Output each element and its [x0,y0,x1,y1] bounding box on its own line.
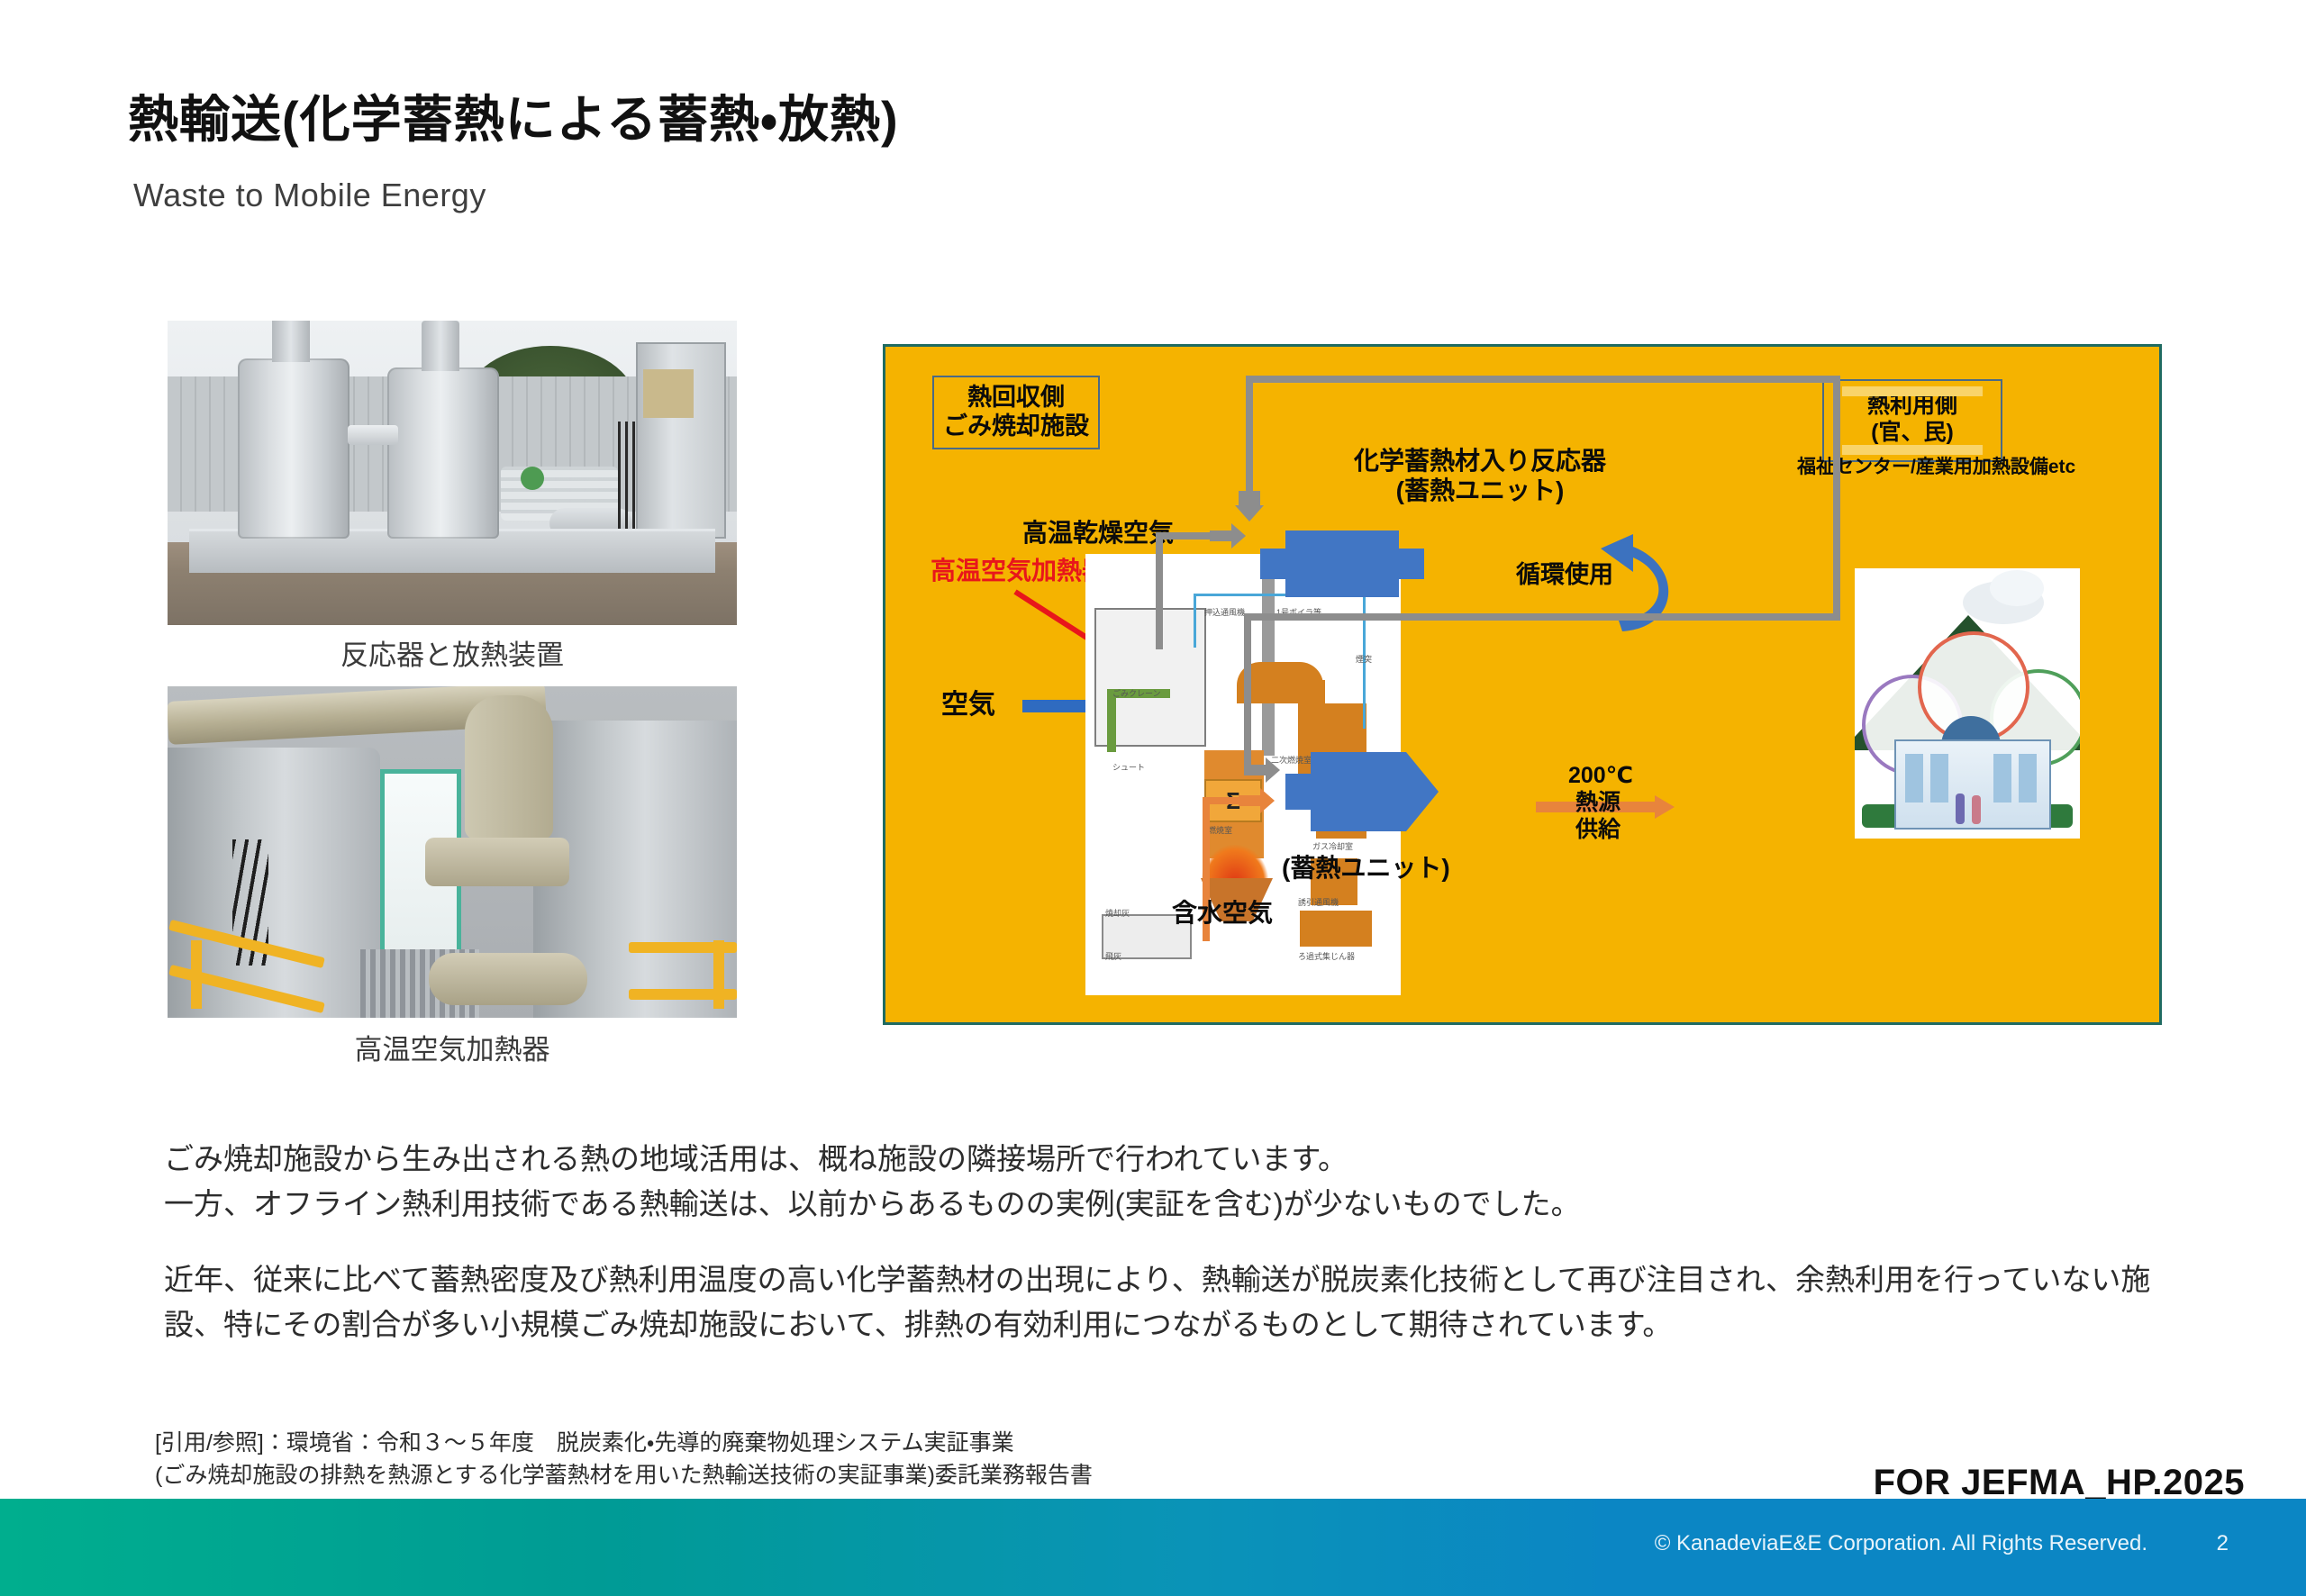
orange-arrow-right-icon [1239,788,1275,813]
photo-caption-1: 反応器と放熱装置 [168,632,737,673]
incinerator-part-label-8: 飛灰 [1105,950,1121,962]
diagram-heat-use-box: 熱利用側(官、民) [1822,379,2002,462]
photo-valve [521,467,544,490]
illustration-window-1 [1905,754,1923,803]
photo-caption-2: 高温空気加熱器 [168,1027,737,1067]
incinerator-part-label-10: 誘引通風機 [1298,896,1339,908]
photo-cabinet-panel [643,369,694,418]
illustration-window-2 [1930,754,1948,803]
photo2-duct-elbow [465,695,553,839]
incinerator-chute [1107,698,1116,752]
diagram-hot-dry-air-label: 高温乾燥空気 [1022,518,1174,548]
photo-high-temperature-air-heater [168,686,737,1018]
citation-line-2: (ごみ焼却施設の排熱を熱源とする化学蓄熱材を用いた熱輸送技術の実証事業)委託業務… [155,1459,1686,1492]
photo-cords [618,422,638,539]
gray-arrow-right-icon [1210,523,1246,549]
diagram-humid-air-label: 含水空気 [1172,898,1273,928]
storage-unit-bottom-shape [1271,743,1464,840]
photo2-rail-post-1 [191,940,202,1009]
body-paragraph-1: ごみ焼却施設から生み出される熱の地域活用は、概ね施設の隣接場所で行われています。… [164,1137,2182,1227]
gray-duct-right-vertical [1833,376,1840,619]
incinerator-part-label-0: ごみクレーン [1112,687,1161,699]
slide-root: 熱輸送(化学蓄熱による蓄熱・放熱) Waste to Mobile Energy… [0,0,2306,1596]
photo-vessel-stack-2 [422,321,459,371]
diagram-air-label: 空気 [941,689,995,721]
incinerator-baghouse [1300,911,1372,947]
diagram-reactor-label: 化学蓄熱材入り反応器(蓄熱ユニット) [1354,446,1606,505]
reactor-unit-top-shape [1246,523,1439,604]
gray-riser [1156,532,1163,649]
illustration-person-2 [1972,795,1981,824]
gray-down-to-storage [1244,613,1251,765]
illustration-person-1 [1956,793,1965,824]
gray-arrow-down-icon [1235,491,1264,521]
diagram-supply-temperature: 200℃ [1568,763,1633,790]
heat-use-highlight-top [1842,386,1984,396]
photo-reactor-vessel-1 [238,358,350,539]
body-paragraph-2: 近年、従来に比べて蓄熱密度及び熱利用温度の高い化学蓄熱材の出現により、熱輸送が脱… [164,1257,2182,1347]
body-text: ごみ焼却施設から生み出される熱の地域活用は、概ね施設の隣接場所で行われています。… [164,1137,2182,1348]
photo2-duct-tee [425,838,569,886]
diagram-supply-label: 熱源供給 [1575,790,1621,843]
photo-connecting-pipe [348,425,398,445]
incinerator-part-label-1: シュート [1112,761,1145,773]
illustration-window-3 [1993,754,2011,803]
incinerator-part-label-2: 燃焼室 [1208,824,1232,836]
incinerator-part-label-9: ろ過式集じん器 [1298,950,1355,962]
diagram-storage-unit-label: (蓄熱ユニット) [1282,853,1450,883]
diagram-heat-recovery-box: 熱回収側ごみ焼却施設 [932,376,1100,449]
photo-vessel-stack-1 [272,321,310,362]
process-flow-diagram: 熱回収側ごみ焼却施設 熱利用側(官、民) 福祉センター/産業用加熱設備etc 化… [883,344,2162,1025]
incinerator-flame [1201,844,1269,882]
gray-duct-top-horizontal [1246,376,1840,383]
photo2-rail-post-2 [713,940,724,1009]
photo-reactor-vessel-2 [387,367,499,539]
page-subtitle: Waste to Mobile Energy [133,177,486,214]
diagram-recirculation-label: 循環使用 [1516,561,1613,590]
incinerator-waterline-2 [1194,594,1196,648]
photo-reactor-and-heat-release-device [168,321,737,625]
diagram-high-temp-air-heater-label: 高温空気加熱器 [931,556,1107,585]
incinerator-part-label-6: 押込通風機 [1204,606,1245,618]
citation: [引用/参照]：環境省：令和３～５年度 脱炭素化・先導的廃棄物処理システム実証事… [155,1427,1686,1492]
heat-use-highlight-bottom [1842,445,1984,455]
jefma-tag: FOR JEFMA_HP.2025 [1874,1463,2245,1503]
gray-return-horizontal [1244,613,1840,621]
heat-use-label: 熱利用側(官、民) [1867,393,1957,445]
footer-copyright: © KanadeviaE&E Corporation. All Rights R… [1655,1531,2147,1556]
incinerator-part-label-7: 焼却灰 [1105,907,1130,919]
illustration-cloud-2 [1990,570,2044,606]
citation-line-1: [引用/参照]：環境省：令和３～５年度 脱炭素化・先導的廃棄物処理システム実証事… [155,1427,1686,1459]
gray-duct-down-vertical [1246,376,1253,502]
footer-bar: © KanadeviaE&E Corporation. All Rights R… [0,1499,2306,1596]
community-utilization-illustration [1855,568,2080,839]
page-title: 熱輸送(化学蓄熱による蓄熱・放熱) [128,79,899,152]
incinerator-part-label-11: 煙突 [1356,653,1372,665]
photo2-lower-duct [429,953,587,1005]
footer-page-number: 2 [2217,1531,2229,1556]
incinerator-part-label-4: ガス冷却室 [1312,840,1353,852]
illustration-window-4 [2019,754,2037,803]
